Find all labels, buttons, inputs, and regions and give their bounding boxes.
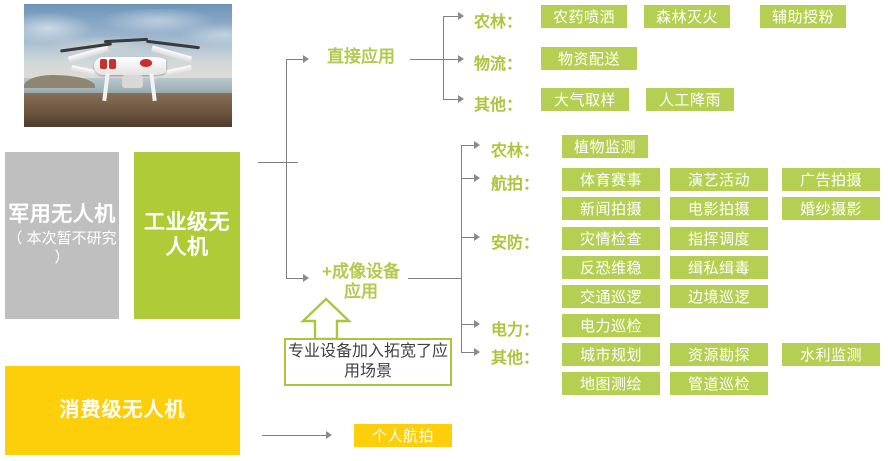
connector-consumer bbox=[262, 435, 328, 436]
arrow-to-consumer-icon bbox=[326, 431, 332, 439]
tag-item[interactable]: 城市规划 bbox=[562, 343, 660, 366]
branch-label-direct-other: 其他： bbox=[474, 91, 522, 115]
branch-label-direct-agriculture: 农林： bbox=[474, 8, 522, 32]
branch-label-imaging-security: 安防： bbox=[491, 229, 539, 253]
drone-propeller bbox=[104, 38, 148, 43]
tag-item[interactable]: 大气取样 bbox=[541, 88, 629, 111]
callout-text: 专业设备加入拓宽了应用场景 bbox=[286, 342, 450, 381]
arrow-to-imaging-icon bbox=[303, 274, 309, 282]
arrow-branch-icon bbox=[474, 174, 480, 182]
tag-item[interactable]: 缉私缉毒 bbox=[670, 256, 768, 279]
category-military-drone[interactable]: 军用无人机 （ 本次暂不研究 ） bbox=[5, 152, 119, 319]
connector-trunk-stem bbox=[258, 162, 298, 163]
tag-item[interactable]: 交通巡逻 bbox=[562, 285, 660, 308]
tag-item[interactable]: 森林灭火 bbox=[644, 5, 730, 28]
tag-item[interactable]: 灾情检查 bbox=[562, 227, 660, 250]
branch-label-imaging-agriculture: 农林： bbox=[491, 137, 539, 161]
drone-photo bbox=[24, 4, 232, 127]
category-consumer-drone[interactable]: 消费级无人机 bbox=[5, 366, 240, 455]
tag-item[interactable]: 演艺活动 bbox=[670, 168, 768, 191]
category-military-title: 军用无人机 bbox=[8, 203, 116, 228]
category-consumer-title: 消费级无人机 bbox=[60, 399, 186, 423]
tag-item[interactable]: 植物监测 bbox=[562, 135, 648, 158]
tag-item[interactable]: 新闻拍摄 bbox=[562, 197, 660, 220]
connector-imaging-spine bbox=[461, 145, 462, 352]
tag-item[interactable]: 边境巡逻 bbox=[670, 285, 768, 308]
tag-item[interactable]: 反恐维稳 bbox=[562, 256, 660, 279]
drone-light bbox=[109, 59, 115, 69]
branch-label-direct-logistics: 物流： bbox=[474, 50, 522, 74]
tag-item[interactable]: 人工降雨 bbox=[646, 88, 734, 111]
node-direct-application[interactable]: 直接应用 bbox=[315, 47, 407, 67]
branch-label-imaging-other: 其他： bbox=[491, 344, 539, 368]
callout-note: 专业设备加入拓宽了应用场景 bbox=[284, 338, 452, 386]
tag-item[interactable]: 物资配送 bbox=[541, 47, 637, 70]
category-industrial-drone[interactable]: 工业级无人机 bbox=[134, 152, 240, 319]
arrow-branch-icon bbox=[458, 55, 464, 63]
diagram-canvas: 军用无人机 （ 本次暂不研究 ） 工业级无人机 消费级无人机 直接应用 +成像设… bbox=[0, 0, 888, 461]
tag-item[interactable]: 体育赛事 bbox=[562, 168, 660, 191]
drone-icon bbox=[66, 36, 195, 105]
tag-item-personal-aerial[interactable]: 个人航拍 bbox=[354, 424, 452, 447]
connector-trunk-spine bbox=[286, 59, 287, 278]
drone-light bbox=[100, 59, 106, 69]
arrow-branch-icon bbox=[474, 141, 480, 149]
tag-item[interactable]: 水利监测 bbox=[782, 343, 880, 366]
drone-light bbox=[140, 59, 152, 67]
drone-gimbal-camera bbox=[122, 75, 143, 89]
tag-item[interactable]: 指挥调度 bbox=[670, 227, 768, 250]
tag-item[interactable]: 广告拍摄 bbox=[782, 168, 880, 191]
arrow-branch-icon bbox=[474, 320, 480, 328]
arrow-branch-icon bbox=[458, 95, 464, 103]
connector-direct-stem bbox=[410, 59, 444, 60]
branch-label-imaging-power: 电力： bbox=[491, 316, 539, 340]
branch-label-imaging-aerial: 航拍： bbox=[491, 170, 539, 194]
tag-item[interactable]: 辅助授粉 bbox=[760, 5, 846, 28]
connector-imaging-stem bbox=[408, 278, 462, 279]
tag-item[interactable]: 地图测绘 bbox=[562, 372, 660, 395]
arrow-branch-icon bbox=[474, 348, 480, 356]
tag-item[interactable]: 婚纱摄影 bbox=[782, 197, 880, 220]
category-industrial-title: 工业级无人机 bbox=[134, 211, 240, 261]
callout-up-arrow-icon bbox=[300, 297, 352, 341]
tag-item[interactable]: 农药喷洒 bbox=[541, 5, 627, 28]
tag-item[interactable]: 电力巡检 bbox=[562, 314, 660, 337]
tag-item[interactable]: 管道巡检 bbox=[670, 372, 768, 395]
tag-item[interactable]: 资源勘探 bbox=[670, 343, 768, 366]
category-military-note: （ 本次暂不研究 ） bbox=[5, 230, 119, 268]
arrow-branch-icon bbox=[474, 233, 480, 241]
tag-item[interactable]: 电影拍摄 bbox=[670, 197, 768, 220]
connector-direct-spine bbox=[443, 16, 444, 100]
arrow-to-direct-icon bbox=[303, 55, 309, 63]
arrow-branch-icon bbox=[458, 12, 464, 20]
